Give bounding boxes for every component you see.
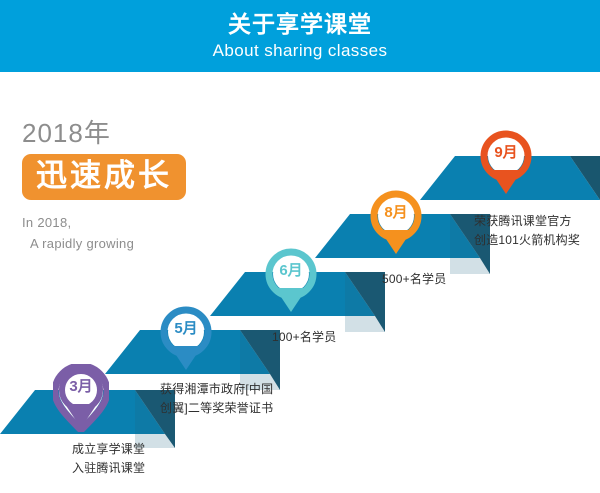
timeline-staircase: 3月 5月 6月 8月 9月 成立享 (0, 72, 600, 493)
timeline-caption-2-line-1: 获得湘潭市政府[中国 (160, 380, 273, 399)
timeline-caption-3-line-1: 100+名学员 (272, 328, 336, 347)
timeline-caption-2-line-2: 创翼]二等奖荣誉证书 (160, 399, 273, 418)
timeline-caption-1-line-1: 成立享学课堂 (72, 440, 145, 459)
timeline-caption-5-line-2: 创造101火箭机构奖 (474, 231, 580, 250)
timeline-pin-3[interactable]: 6月 (263, 248, 319, 316)
timeline-pin-2[interactable]: 5月 (158, 306, 214, 374)
timeline-pin-1[interactable]: 3月 (53, 364, 109, 432)
page-title: 关于享学课堂 (228, 11, 372, 37)
timeline-pin-5[interactable]: 9月 (478, 130, 534, 198)
timeline-caption-1: 成立享学课堂 入驻腾讯课堂 (72, 440, 145, 478)
timeline-caption-5: 荣获腾讯课堂官方 创造101火箭机构奖 (474, 212, 580, 250)
timeline-caption-1-line-2: 入驻腾讯课堂 (72, 459, 145, 478)
timeline-caption-2: 获得湘潭市政府[中国 创翼]二等奖荣誉证书 (160, 380, 273, 418)
timeline-caption-3: 100+名学员 (272, 328, 336, 347)
page-header-banner: 关于享学课堂 About sharing classes (0, 0, 600, 72)
timeline-pin-4[interactable]: 8月 (368, 190, 424, 258)
timeline-caption-4-line-1: 500+名学员 (382, 270, 446, 289)
page-subtitle: About sharing classes (213, 40, 388, 62)
timeline-caption-4: 500+名学员 (382, 270, 446, 289)
timeline-caption-5-line-1: 荣获腾讯课堂官方 (474, 212, 580, 231)
